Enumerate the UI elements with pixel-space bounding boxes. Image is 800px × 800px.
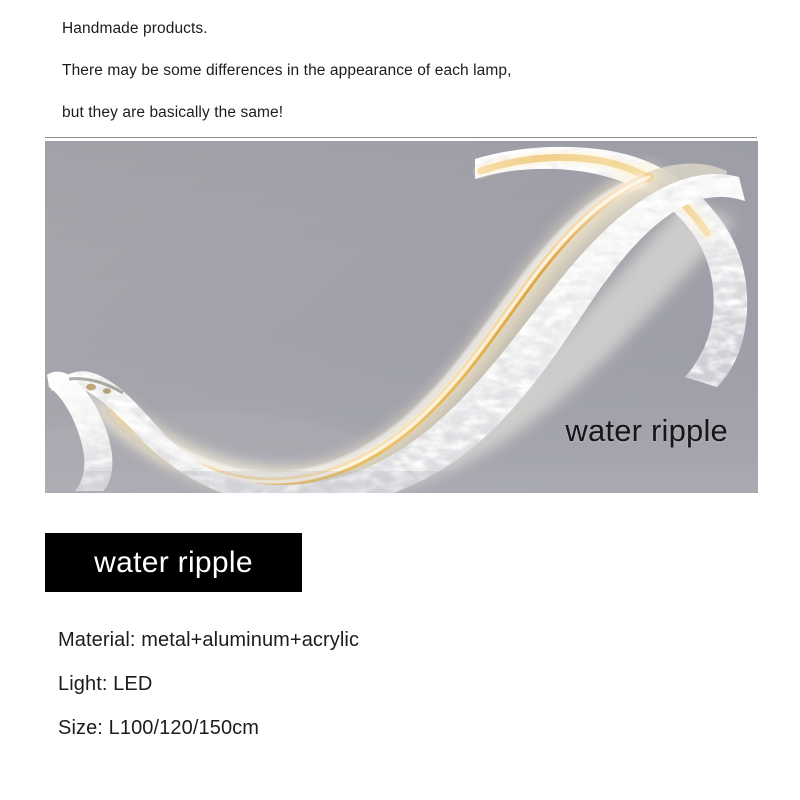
note-line-3: but they are basically the same! (62, 92, 752, 134)
note-line-1: Handmade products. (62, 8, 752, 50)
handmade-note-block: Handmade products. There may be some dif… (62, 8, 752, 134)
note-line-2: There may be some differences in the app… (62, 50, 752, 92)
photo-overlay-caption: water ripple (565, 413, 728, 449)
spec-light: Light: LED (58, 662, 708, 706)
product-photo: water ripple (45, 141, 758, 493)
section-divider (45, 137, 757, 138)
product-name-label: water ripple (94, 546, 253, 580)
specification-list: Material: metal+aluminum+acrylic Light: … (58, 618, 708, 750)
product-name-banner: water ripple (45, 533, 302, 592)
product-detail-page: Handmade products. There may be some dif… (0, 0, 800, 800)
spec-size: Size: L100/120/150cm (58, 706, 708, 750)
spec-material: Material: metal+aluminum+acrylic (58, 618, 708, 662)
